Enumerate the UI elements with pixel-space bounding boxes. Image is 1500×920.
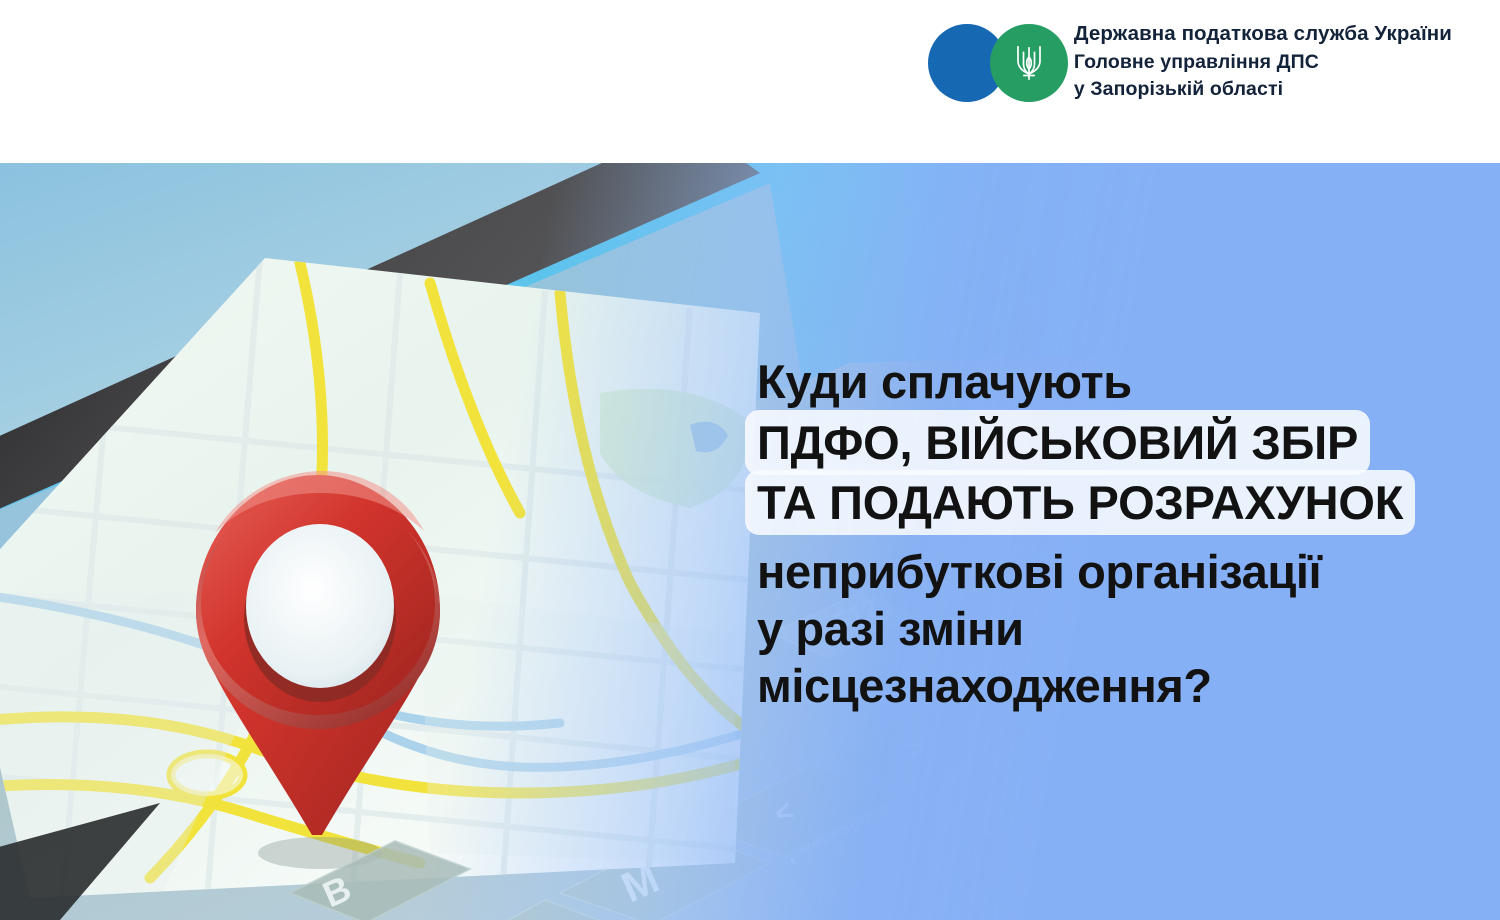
agency-name-block: Державна податкова служба України Головн… xyxy=(1074,17,1452,103)
logo-green-circle-icon xyxy=(990,24,1068,102)
ukraine-trident-emblem-icon xyxy=(1014,44,1044,82)
headline-line-3: ТА ПОДАЮТЬ РОЗРАХУНОК xyxy=(745,470,1415,535)
headline-line-1-row: Куди сплачують xyxy=(752,353,1492,410)
headline-line-3-row: ТА ПОДАЮТЬ РОЗРАХУНОК xyxy=(752,470,1492,535)
headline-line-6: місцезнаходження? xyxy=(752,659,1212,712)
headline-line-5: у разі зміни xyxy=(752,602,1024,655)
header-bar: Державна податкова служба України Головн… xyxy=(0,0,1500,163)
headline-line-6-row: місцезнаходження? xyxy=(752,657,1492,714)
headline-block: Куди сплачують ПДФО, ВІЙСЬКОВИЙ ЗБІР ТА … xyxy=(752,353,1492,714)
hero-image-area: F12 Prntscr Scroll Lock Pause Insert Bac… xyxy=(0,163,1500,920)
headline-line-1: Куди сплачують xyxy=(752,355,1132,408)
headline-line-2: ПДФО, ВІЙСЬКОВИЙ ЗБІР xyxy=(745,410,1370,475)
headline-line-4-row: неприбуткові організації xyxy=(752,543,1492,600)
headline-line-4: неприбуткові організації xyxy=(752,545,1321,598)
headline-gap xyxy=(752,535,1492,543)
agency-name-line-3: у Запорізькій області xyxy=(1074,76,1452,103)
headline-line-5-row: у разі зміни xyxy=(752,600,1492,657)
poster-canvas: Державна податкова служба України Головн… xyxy=(0,0,1500,920)
agency-name-line-2: Головне управління ДПС xyxy=(1074,49,1452,76)
agency-logo xyxy=(924,17,1074,109)
agency-name-line-1: Державна податкова служба України xyxy=(1074,19,1452,49)
headline-line-2-row: ПДФО, ВІЙСЬКОВИЙ ЗБІР xyxy=(752,410,1492,470)
brand-block: Державна податкова служба України Головн… xyxy=(924,17,1452,109)
